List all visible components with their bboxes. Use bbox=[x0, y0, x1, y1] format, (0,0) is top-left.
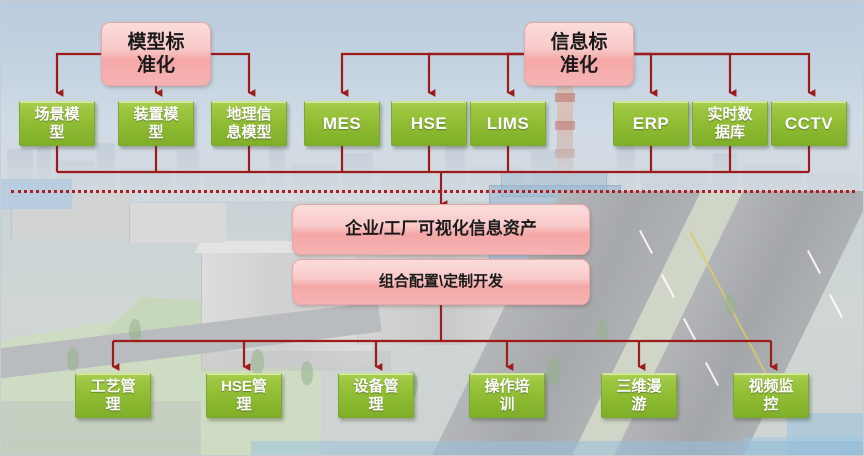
source-box-scene-model-line2: 型 bbox=[49, 124, 64, 141]
source-box-device-model-line2: 型 bbox=[148, 124, 163, 141]
layer-divider bbox=[11, 190, 855, 193]
source-box-realtime-database[interactable]: 实时数 据库 bbox=[692, 101, 768, 146]
source-box-realtime-database-line2: 据库 bbox=[715, 124, 745, 141]
header-information-standardization-line1: 信息标 bbox=[550, 31, 607, 54]
source-box-device-model[interactable]: 装置模 型 bbox=[118, 101, 194, 146]
diagram-canvas: 模型标 准化 信息标 准化 场景模 型 装置模 型 地理信 息模型 MES HS… bbox=[0, 0, 864, 456]
application-box-video-surveillance-line1: 视频监 bbox=[748, 378, 793, 395]
header-information-standardization-line2: 准化 bbox=[560, 54, 598, 77]
application-box-process-management-line1: 工艺管 bbox=[90, 378, 135, 395]
application-box-3d-roaming-line1: 三维漫 bbox=[616, 378, 661, 395]
application-box-hse-management-line1: HSE管 bbox=[221, 378, 267, 395]
header-model-standardization-line1: 模型标 bbox=[127, 31, 184, 54]
source-box-gis-model[interactable]: 地理信 息模型 bbox=[211, 101, 287, 146]
header-model-standardization[interactable]: 模型标 准化 bbox=[101, 22, 211, 86]
application-box-3d-roaming-line2: 游 bbox=[631, 396, 646, 413]
header-information-standardization[interactable]: 信息标 准化 bbox=[524, 22, 634, 86]
application-box-video-surveillance-line2: 控 bbox=[763, 396, 778, 413]
source-box-lims-label: LIMS bbox=[487, 114, 530, 134]
source-box-device-model-line1: 装置模 bbox=[133, 106, 178, 123]
source-box-erp[interactable]: ERP bbox=[613, 101, 689, 146]
application-box-video-surveillance[interactable]: 视频监 控 bbox=[733, 373, 809, 418]
source-box-lims[interactable]: LIMS bbox=[470, 101, 546, 146]
header-model-standardization-line2: 准化 bbox=[137, 54, 175, 77]
source-box-hse[interactable]: HSE bbox=[391, 101, 467, 146]
platform-visual-information-asset-label: 企业/工厂可视化信息资产 bbox=[345, 219, 537, 240]
application-box-hse-management[interactable]: HSE管 理 bbox=[206, 373, 282, 418]
platform-composition-customization-label: 组合配置\定制开发 bbox=[379, 273, 503, 291]
source-box-gis-model-line2: 息模型 bbox=[226, 124, 271, 141]
source-box-erp-label: ERP bbox=[633, 114, 669, 134]
application-box-equipment-management[interactable]: 设备管 理 bbox=[338, 373, 414, 418]
source-box-scene-model-line1: 场景模 bbox=[34, 106, 79, 123]
application-box-equipment-management-line2: 理 bbox=[368, 396, 383, 413]
source-box-mes-label: MES bbox=[323, 114, 361, 134]
application-box-equipment-management-line1: 设备管 bbox=[353, 378, 398, 395]
application-box-hse-management-line2: 理 bbox=[236, 396, 251, 413]
source-box-hse-label: HSE bbox=[411, 114, 447, 134]
platform-composition-customization[interactable]: 组合配置\定制开发 bbox=[292, 259, 590, 305]
source-box-cctv-label: CCTV bbox=[785, 114, 833, 134]
application-box-process-management[interactable]: 工艺管 理 bbox=[75, 373, 151, 418]
source-box-gis-model-line1: 地理信 bbox=[226, 106, 271, 123]
source-box-scene-model[interactable]: 场景模 型 bbox=[19, 101, 95, 146]
source-box-cctv[interactable]: CCTV bbox=[771, 101, 847, 146]
platform-visual-information-asset[interactable]: 企业/工厂可视化信息资产 bbox=[292, 204, 590, 255]
application-box-process-management-line2: 理 bbox=[105, 396, 120, 413]
source-box-mes[interactable]: MES bbox=[304, 101, 380, 146]
source-box-realtime-database-line1: 实时数 bbox=[707, 106, 752, 123]
application-box-3d-roaming[interactable]: 三维漫 游 bbox=[601, 373, 677, 418]
application-box-operation-training-line2: 训 bbox=[499, 396, 514, 413]
application-box-operation-training-line1: 操作培 bbox=[484, 378, 529, 395]
application-box-operation-training[interactable]: 操作培 训 bbox=[469, 373, 545, 418]
